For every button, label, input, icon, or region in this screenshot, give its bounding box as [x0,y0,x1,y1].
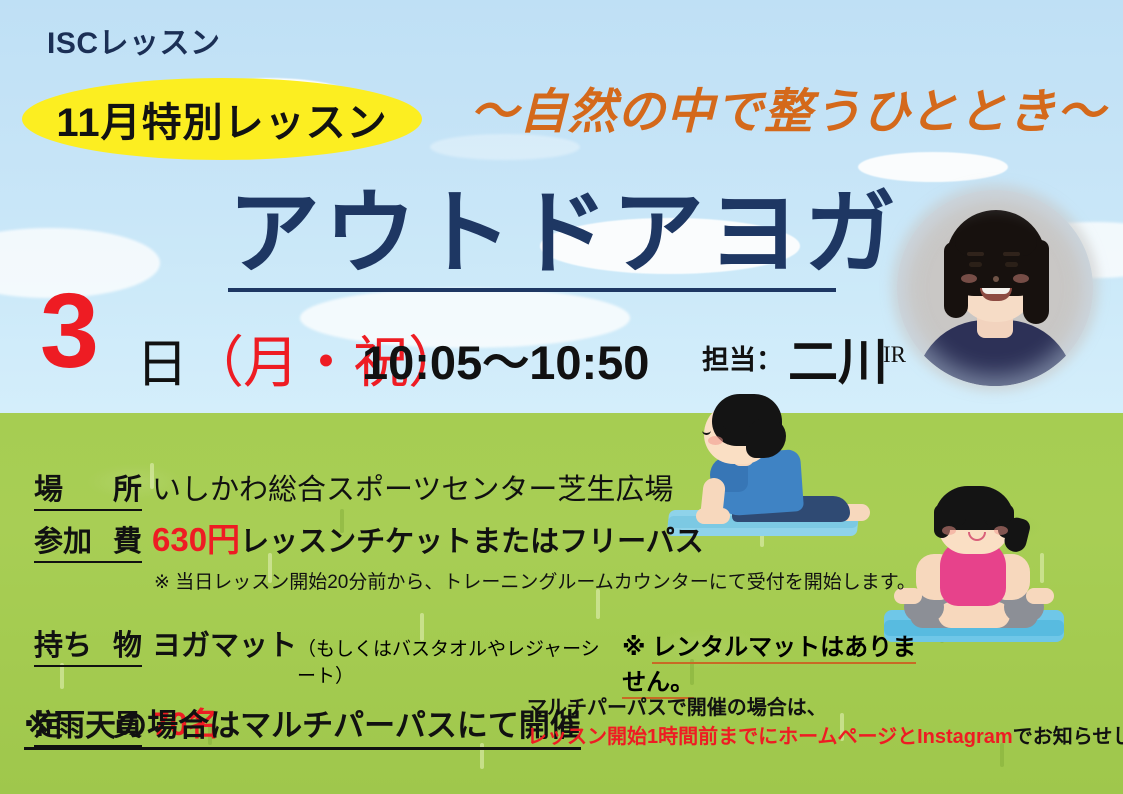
instructor-photo [897,190,1093,386]
cloud-shape [858,152,1008,182]
figure-cheek-left [942,526,956,535]
figure-cheek [708,436,723,445]
multipurpose-note: マルチパーパスで開催の場合は、 レッスン開始1時間前までにホームページとInst… [527,694,1123,752]
date-time-row: 3 日 （月・祝） 10:05〜10:50 担当： 二川 IR [40,286,900,396]
detail-label-location: 場 所 [34,466,142,511]
detail-label-part: 場 [34,466,63,508]
multipurpose-note-line2: レッスン開始1時間前までにホームページとInstagramでお知らせします。 [527,723,1123,752]
rental-note: ※ レンタルマットはありません。 [622,627,934,697]
rain-policy-note: ※雨天の場合はマルチパーパスにて開催 [24,700,581,750]
fee-amount: 630円 [152,521,240,558]
detail-row-fee: 参加 費 630円レッスンチケットまたはフリーパス [34,513,934,563]
detail-label-part: 参加 [34,518,92,560]
detail-row-items: 持ち 物 ヨガマット （もしくはバスタオルやレジャーシート） ※ レンタルマット… [34,622,934,697]
figure-eye [718,426,726,434]
figure-cheek-right [994,526,1008,535]
organization-label: ISCレッスン [47,18,221,62]
detail-items-paren: （もしくはバスタオルやレジャーシート） [297,634,604,688]
instructor-label: 担当： [702,338,783,377]
rental-note-mark: ※ [622,634,652,661]
rental-note-text: レンタルマットはありません。 [622,634,916,699]
portrait-vignette [897,190,1093,386]
multipurpose-note-black: でお知らせします。 [1013,726,1123,748]
instructor-suffix: IR [883,342,906,368]
event-time: 10:05〜10:50 [362,324,649,393]
detail-value-items: ヨガマット [152,622,297,664]
multipurpose-note-line1: マルチパーパスで開催の場合は、 [527,694,1123,723]
detail-label-items: 持ち 物 [34,622,142,667]
tagline: 〜自然の中で整うひととき〜 [470,72,1106,142]
instructor-name: 二川 [788,322,888,394]
event-day-number: 3 [40,278,99,384]
detail-label-part: 物 [113,622,142,664]
detail-value-fee: 630円レッスンチケットまたはフリーパス [152,513,704,561]
special-lesson-badge-label: 11月特別レッスン [56,90,387,148]
detail-label-part: 所 [113,466,142,508]
event-day-unit: 日 [136,322,188,397]
detail-row-location: 場 所 いしかわ総合スポーツセンター芝生広場 [34,466,934,511]
detail-label-fee: 参加 費 [34,518,142,563]
detail-label-part: 費 [113,518,142,560]
figure-hand-right [1026,588,1054,604]
page-title: アウトドアヨガ [228,186,900,283]
detail-value-location: いしかわ総合スポーツセンター芝生広場 [152,466,673,508]
fee-rest: レッスンチケットまたはフリーパス [240,526,704,558]
special-lesson-badge: 11月特別レッスン [22,78,422,160]
detail-label-part: 持ち [34,622,92,664]
poster-canvas: ISCレッスン 11月特別レッスン 〜自然の中で整うひととき〜 アウトドアヨガ … [0,0,1123,794]
multipurpose-note-red: レッスン開始1時間前までにホームページとInstagram [527,726,1013,748]
reception-note: ※ 当日レッスン開始20分前から、トレーニングルームカウンターにて受付を開始しま… [154,567,934,594]
